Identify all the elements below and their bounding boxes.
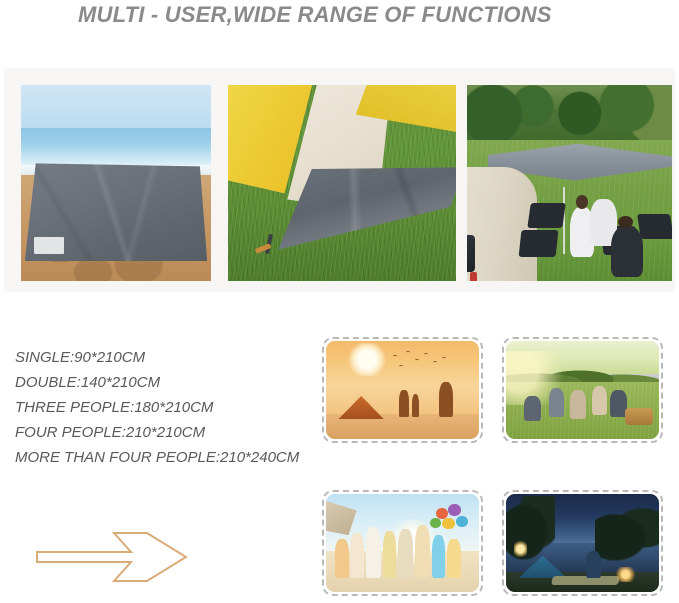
lantern-glow: [514, 541, 528, 557]
person-seated: [610, 390, 627, 417]
right-arrow-icon: [35, 528, 210, 586]
person-silhouette: [439, 382, 453, 417]
person-standing: [447, 539, 461, 578]
person-seated: [592, 386, 607, 415]
person-standing: [415, 525, 430, 578]
tree-line-layer: [467, 85, 672, 144]
page-title: MULTI - USER,WIDE RANGE OF FUNCTIONS: [78, 2, 552, 28]
campfire-glow: [616, 567, 634, 583]
person-standing: [335, 539, 349, 578]
right-arrow-outline-svg: [35, 528, 210, 586]
bird-icon: [442, 357, 446, 360]
bird-icon: [406, 351, 410, 354]
spec-line-more-than-four: MORE THAN FOUR PEOPLE:210*240CM: [15, 445, 345, 470]
sun-flare: [506, 351, 575, 405]
camp-chair: [637, 214, 672, 239]
picnic-basket: [625, 408, 653, 426]
person-standing: [432, 535, 446, 578]
photo-car-awning-in-park: [467, 85, 672, 281]
ground-mat: [551, 576, 620, 585]
awning-pole: [563, 187, 565, 254]
person-seated: [586, 551, 601, 578]
spec-line-three-people: THREE PEOPLE:180*210CM: [15, 395, 345, 420]
thumb-friends-picnic-field: [506, 341, 659, 439]
person-seated: [570, 390, 585, 419]
camp-chair: [519, 230, 559, 257]
tree-silhouette: [595, 502, 659, 561]
size-specification-list: SINGLE:90*210CM DOUBLE:140*210CM THREE P…: [15, 345, 345, 470]
bird-icon: [399, 365, 403, 368]
person-standing: [383, 531, 397, 578]
person-silhouette: [399, 390, 408, 417]
brand-logo: [34, 237, 64, 254]
person-standing: [366, 527, 381, 578]
spec-line-double: DOUBLE:140*210CM: [15, 370, 345, 395]
camp-chair: [527, 203, 565, 228]
thumb-night-lakeside-camp: [506, 494, 659, 592]
page-header: MULTI - USER,WIDE RANGE OF FUNCTIONS: [0, 0, 679, 40]
car-body: [467, 167, 537, 281]
bird-icon: [424, 353, 428, 356]
person-standing: [350, 533, 364, 578]
thumb-sunset-tent-silhouette: [326, 341, 479, 439]
balloon-icon: [430, 518, 441, 529]
person-silhouette: [412, 394, 420, 418]
hero-photo-panel: [4, 68, 675, 292]
tree-silhouette: [506, 496, 555, 569]
bird-icon: [393, 355, 397, 358]
car-tail-light: [470, 272, 477, 281]
photo-tent-footprint-on-grass: [228, 85, 456, 281]
bird-icon: [433, 361, 437, 364]
balloon-icon: [442, 518, 454, 530]
person-seated: [549, 388, 564, 417]
sky-layer: [21, 85, 211, 128]
car-rear-window: [467, 235, 475, 271]
person-seated: [611, 226, 644, 277]
person-seated: [524, 396, 541, 421]
sun-glow: [347, 343, 387, 376]
spec-line-single: SINGLE:90*210CM: [15, 345, 345, 370]
thumb-beach-group-balloons: [326, 494, 479, 592]
person-standing: [398, 529, 413, 578]
photo-grey-tarp-on-beach: [21, 85, 211, 281]
balloon-icon: [448, 504, 460, 516]
spec-line-four-people: FOUR PEOPLE:210*210CM: [15, 420, 345, 445]
bird-icon: [415, 359, 419, 362]
